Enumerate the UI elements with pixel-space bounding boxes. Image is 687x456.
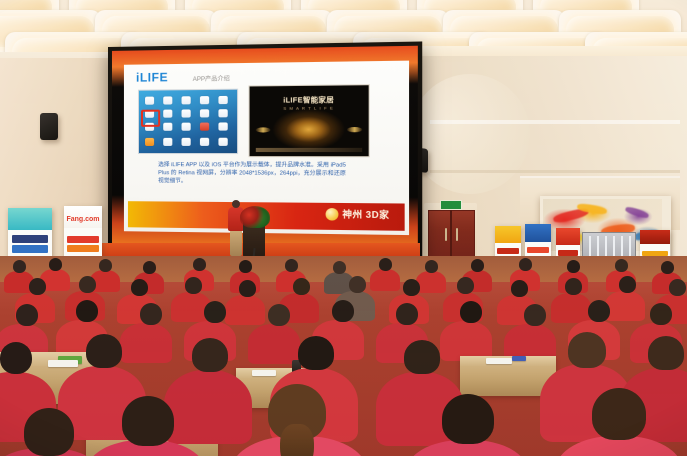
banner-brand-label: Fang.com	[66, 216, 99, 223]
handout-white	[486, 358, 512, 364]
seated-audience	[0, 256, 687, 456]
logo-text: 神州 3D家	[342, 207, 389, 221]
promo-panel-footer	[256, 148, 362, 152]
banner-bar	[497, 248, 519, 254]
banner-bar	[12, 245, 49, 252]
banner-bar	[67, 245, 99, 252]
wall-speaker-left	[40, 113, 58, 140]
slide-title-brand: iLIFE	[136, 70, 168, 85]
promo-wing-left	[256, 127, 271, 132]
promo-wing-right	[347, 127, 362, 132]
slide-title: iLIFE	[136, 70, 168, 85]
promo-panel-subtitle: S M A R T L I F E	[283, 105, 334, 111]
highlighted-app-icon	[141, 110, 160, 127]
banner-bar	[67, 236, 99, 243]
banner-bar	[642, 251, 667, 256]
conference-hall-photo: iLIFE APP产品介绍	[0, 0, 687, 456]
presenter-legs	[230, 230, 242, 256]
exit-sign	[440, 200, 462, 210]
presentation-slide: iLIFE APP产品介绍	[124, 61, 409, 235]
door-center-seam	[450, 210, 452, 258]
door-handle-left[interactable]	[445, 228, 447, 241]
promo-panel-title: iLIFE智能家居	[283, 95, 334, 106]
banner-bar	[527, 247, 549, 253]
banner-header	[525, 224, 551, 242]
presenter-head	[232, 200, 240, 208]
slide-title-subtitle: APP产品介绍	[193, 73, 230, 83]
folder-blue	[512, 356, 526, 361]
door-handle-right[interactable]	[456, 228, 458, 241]
banner-header	[640, 230, 670, 244]
wall-moulding-lower	[430, 170, 680, 173]
banner-bar	[12, 235, 49, 242]
wall-moulding-upper	[430, 120, 680, 124]
wall-arch-right	[410, 74, 530, 194]
logo-circle-icon	[325, 208, 338, 221]
handout-white	[252, 370, 276, 376]
flower-arrangement	[240, 206, 270, 228]
handout-white	[48, 360, 78, 367]
projection-screen: iLIFE APP产品介绍	[108, 41, 422, 260]
banner-bar	[558, 250, 578, 256]
slide-footer-logo: 神州 3D家	[325, 207, 389, 221]
slide-body-text: 选择 iLIFE APP 以及 iOS 平台作为展示载体，提升品牌水准。采用 i…	[158, 161, 346, 187]
paint-stroke	[625, 205, 650, 219]
product-promo-panel: iLIFE智能家居 S M A R T L I F E	[249, 84, 370, 157]
banner-header	[495, 226, 521, 243]
banner-header	[556, 228, 580, 245]
emergency-exit-door[interactable]	[428, 210, 475, 260]
banner-header	[8, 208, 52, 230]
